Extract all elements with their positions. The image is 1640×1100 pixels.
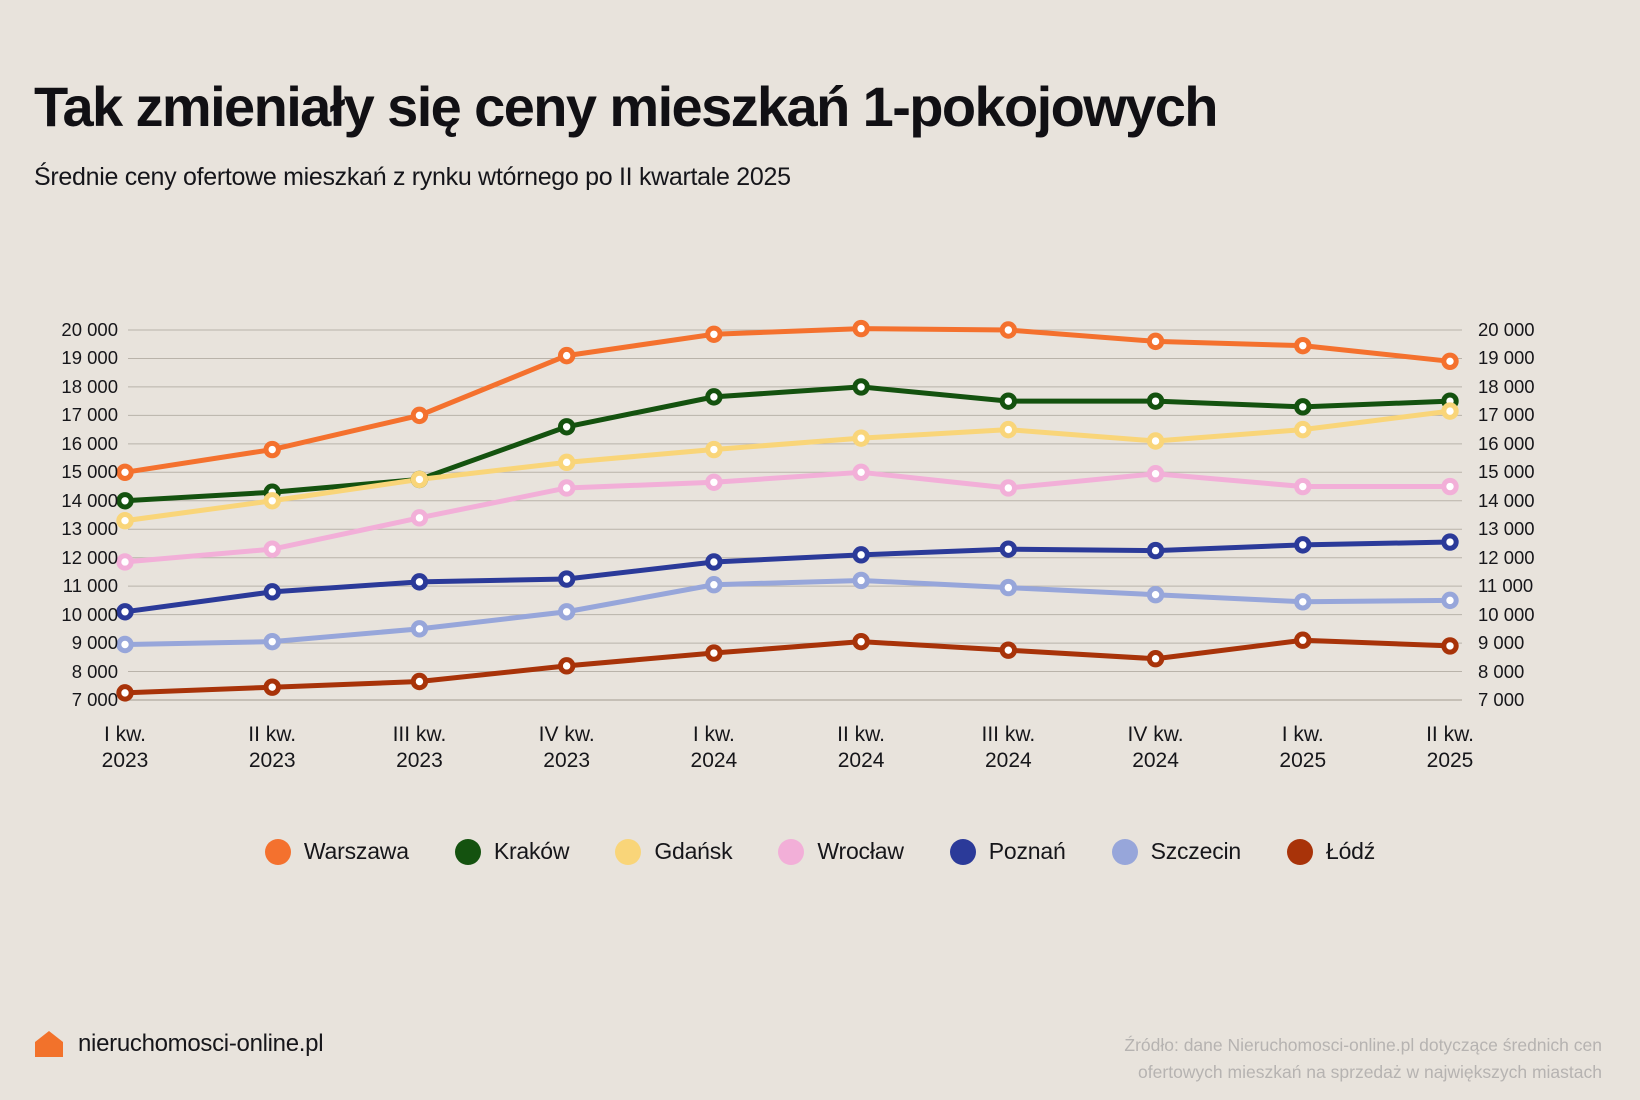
data-point: [266, 635, 278, 647]
y-tick-label-right: 20 000: [1478, 321, 1618, 340]
markers-wrocław: [119, 466, 1456, 568]
legend-label: Warszawa: [304, 838, 409, 865]
data-point: [1444, 480, 1456, 492]
data-point: [855, 466, 867, 478]
data-point: [1002, 581, 1014, 593]
data-point: [708, 391, 720, 403]
y-tick-label-left: 17 000: [0, 406, 118, 425]
data-point: [855, 432, 867, 444]
data-point: [266, 443, 278, 455]
brand-name: nieruchomosci-online.pl: [78, 1030, 323, 1058]
data-point: [560, 660, 572, 672]
series-line: [125, 387, 1450, 501]
data-point: [1297, 401, 1309, 413]
data-point: [1444, 536, 1456, 548]
x-tick-quarter: III kw.: [938, 722, 1078, 748]
legend-label: Łódź: [1326, 838, 1375, 865]
x-tick-year: 2023: [349, 748, 489, 774]
page-subtitle: Średnie ceny ofertowe mieszkań z rynku w…: [34, 163, 791, 192]
data-point: [1444, 594, 1456, 606]
y-tick-label-left: 8 000: [0, 663, 118, 682]
data-point: [708, 443, 720, 455]
x-tick-year: 2023: [55, 748, 195, 774]
data-point: [560, 482, 572, 494]
x-tick-quarter: IV kw.: [497, 722, 637, 748]
x-tick-label: IV kw.2024: [1086, 722, 1226, 773]
data-point: [1297, 634, 1309, 646]
x-tick-label: I kw.2023: [55, 722, 195, 773]
y-tick-label-left: 9 000: [0, 634, 118, 653]
data-point: [1297, 480, 1309, 492]
x-tick-quarter: I kw.: [1233, 722, 1373, 748]
series-line: [125, 472, 1450, 562]
legend-label: Gdańsk: [654, 838, 732, 865]
x-tick-year: 2024: [938, 748, 1078, 774]
x-tick-label: III kw.2023: [349, 722, 489, 773]
data-point: [1297, 423, 1309, 435]
series-poznań: [125, 542, 1450, 612]
y-tick-label-left: 7 000: [0, 691, 118, 710]
x-tick-quarter: II kw.: [202, 722, 342, 748]
data-point: [266, 495, 278, 507]
data-point: [119, 466, 131, 478]
series-wrocław: [125, 472, 1450, 562]
markers-gdańsk: [119, 405, 1456, 527]
data-point: [266, 543, 278, 555]
data-point: [560, 606, 572, 618]
data-point: [1444, 395, 1456, 407]
legend-color-dot-icon: [950, 839, 976, 865]
data-point: [708, 476, 720, 488]
y-tick-label-left: 12 000: [0, 549, 118, 568]
legend-item-kraków[interactable]: Kraków: [455, 838, 570, 865]
data-point: [1002, 324, 1014, 336]
data-point: [1297, 339, 1309, 351]
y-tick-label-left: 15 000: [0, 463, 118, 482]
x-tick-year: 2024: [644, 748, 784, 774]
chart-legend: WarszawaKrakówGdańskWrocławPoznańSzczeci…: [0, 838, 1640, 865]
y-tick-label-right: 15 000: [1478, 463, 1618, 482]
data-point: [1149, 335, 1161, 347]
x-tick-year: 2025: [1380, 748, 1520, 774]
series-line: [125, 640, 1450, 693]
legend-item-poznań[interactable]: Poznań: [950, 838, 1066, 865]
series-kraków: [125, 387, 1450, 501]
x-tick-quarter: I kw.: [644, 722, 784, 748]
markers-łódź: [119, 634, 1456, 699]
legend-color-dot-icon: [778, 839, 804, 865]
legend-label: Kraków: [494, 838, 570, 865]
data-point: [1002, 423, 1014, 435]
data-point: [560, 573, 572, 585]
page-title: Tak zmieniały się ceny mieszkań 1-pokojo…: [34, 78, 1217, 137]
data-point: [708, 647, 720, 659]
data-point: [266, 586, 278, 598]
data-point: [855, 381, 867, 393]
data-point: [1149, 544, 1161, 556]
data-point: [1444, 640, 1456, 652]
series-line: [125, 411, 1450, 521]
source-line-1: Źródło: dane Nieruchomosci-online.pl dot…: [1124, 1032, 1602, 1059]
x-tick-year: 2024: [791, 748, 931, 774]
x-tick-year: 2023: [202, 748, 342, 774]
data-point: [560, 456, 572, 468]
y-tick-label-right: 17 000: [1478, 406, 1618, 425]
data-point: [855, 549, 867, 561]
source-line-2: ofertowych mieszkań na sprzedaż w najwię…: [1124, 1059, 1602, 1086]
markers-poznań: [119, 536, 1456, 618]
x-tick-label: I kw.2024: [644, 722, 784, 773]
data-point: [1002, 482, 1014, 494]
x-tick-year: 2024: [1086, 748, 1226, 774]
house-icon: [34, 1030, 64, 1058]
legend-item-warszawa[interactable]: Warszawa: [265, 838, 409, 865]
legend-color-dot-icon: [1287, 839, 1313, 865]
series-szczecin: [125, 580, 1450, 644]
data-point: [1149, 395, 1161, 407]
legend-label: Wrocław: [817, 838, 903, 865]
data-point: [855, 635, 867, 647]
data-point: [266, 486, 278, 498]
legend-item-szczecin[interactable]: Szczecin: [1112, 838, 1241, 865]
data-point: [855, 574, 867, 586]
footer-brand[interactable]: nieruchomosci-online.pl: [34, 1030, 323, 1058]
y-tick-label-right: 9 000: [1478, 634, 1618, 653]
x-tick-quarter: II kw.: [791, 722, 931, 748]
legend-color-dot-icon: [1112, 839, 1138, 865]
x-tick-label: II kw.2025: [1380, 722, 1520, 773]
data-point: [560, 421, 572, 433]
legend-label: Szczecin: [1151, 838, 1241, 865]
data-point: [413, 409, 425, 421]
markers-kraków: [119, 381, 1456, 507]
y-tick-label-right: 18 000: [1478, 378, 1618, 397]
data-point: [1149, 435, 1161, 447]
x-tick-year: 2025: [1233, 748, 1373, 774]
data-point: [266, 681, 278, 693]
y-tick-label-right: 13 000: [1478, 520, 1618, 539]
data-point: [1149, 588, 1161, 600]
x-tick-label: I kw.2025: [1233, 722, 1373, 773]
x-tick-quarter: III kw.: [349, 722, 489, 748]
legend-item-wrocław[interactable]: Wrocław: [778, 838, 903, 865]
series-line: [125, 542, 1450, 612]
y-tick-label-right: 8 000: [1478, 663, 1618, 682]
y-tick-label-right: 11 000: [1478, 577, 1618, 596]
series-gdańsk: [125, 411, 1450, 521]
data-point: [119, 638, 131, 650]
markers-warszawa: [119, 322, 1456, 478]
series-warszawa: [125, 329, 1450, 473]
data-point: [708, 556, 720, 568]
data-point: [1149, 653, 1161, 665]
y-tick-label-left: 14 000: [0, 492, 118, 511]
y-tick-label-right: 16 000: [1478, 435, 1618, 454]
data-point: [1149, 468, 1161, 480]
data-point: [413, 675, 425, 687]
y-tick-label-left: 10 000: [0, 606, 118, 625]
y-tick-label-left: 20 000: [0, 321, 118, 340]
data-point: [1297, 539, 1309, 551]
data-point: [1002, 644, 1014, 656]
data-point: [708, 579, 720, 591]
x-tick-year: 2023: [497, 748, 637, 774]
x-tick-label: IV kw.2023: [497, 722, 637, 773]
source-note: Źródło: dane Nieruchomosci-online.pl dot…: [1124, 1032, 1602, 1086]
data-point: [119, 495, 131, 507]
markers-szczecin: [119, 574, 1456, 650]
y-tick-label-right: 14 000: [1478, 492, 1618, 511]
data-point: [855, 322, 867, 334]
y-tick-label-left: 16 000: [0, 435, 118, 454]
data-point: [119, 556, 131, 568]
x-tick-label: III kw.2024: [938, 722, 1078, 773]
legend-color-dot-icon: [615, 839, 641, 865]
y-tick-label-right: 7 000: [1478, 691, 1618, 710]
y-tick-label-right: 12 000: [1478, 549, 1618, 568]
data-point: [413, 473, 425, 485]
legend-item-łódź[interactable]: Łódź: [1287, 838, 1375, 865]
y-tick-label-left: 13 000: [0, 520, 118, 539]
data-point: [1297, 596, 1309, 608]
series-line: [125, 329, 1450, 473]
x-tick-quarter: II kw.: [1380, 722, 1520, 748]
x-tick-label: II kw.2024: [791, 722, 931, 773]
y-tick-label-left: 18 000: [0, 378, 118, 397]
y-tick-label-right: 10 000: [1478, 606, 1618, 625]
data-point: [413, 576, 425, 588]
data-point: [119, 606, 131, 618]
x-tick-label: II kw.2023: [202, 722, 342, 773]
x-tick-quarter: I kw.: [55, 722, 195, 748]
series-line: [125, 580, 1450, 644]
series-łódź: [125, 640, 1450, 693]
data-point: [708, 328, 720, 340]
legend-item-gdańsk[interactable]: Gdańsk: [615, 838, 732, 865]
data-point: [413, 512, 425, 524]
data-point: [1002, 395, 1014, 407]
y-tick-label-left: 11 000: [0, 577, 118, 596]
data-point: [119, 514, 131, 526]
data-point: [1444, 355, 1456, 367]
data-point: [119, 687, 131, 699]
legend-color-dot-icon: [265, 839, 291, 865]
y-tick-label-right: 19 000: [1478, 349, 1618, 368]
data-point: [1444, 405, 1456, 417]
legend-color-dot-icon: [455, 839, 481, 865]
x-tick-quarter: IV kw.: [1086, 722, 1226, 748]
data-point: [413, 623, 425, 635]
y-tick-label-left: 19 000: [0, 349, 118, 368]
data-point: [413, 473, 425, 485]
legend-label: Poznań: [989, 838, 1066, 865]
data-point: [560, 349, 572, 361]
data-point: [1002, 543, 1014, 555]
